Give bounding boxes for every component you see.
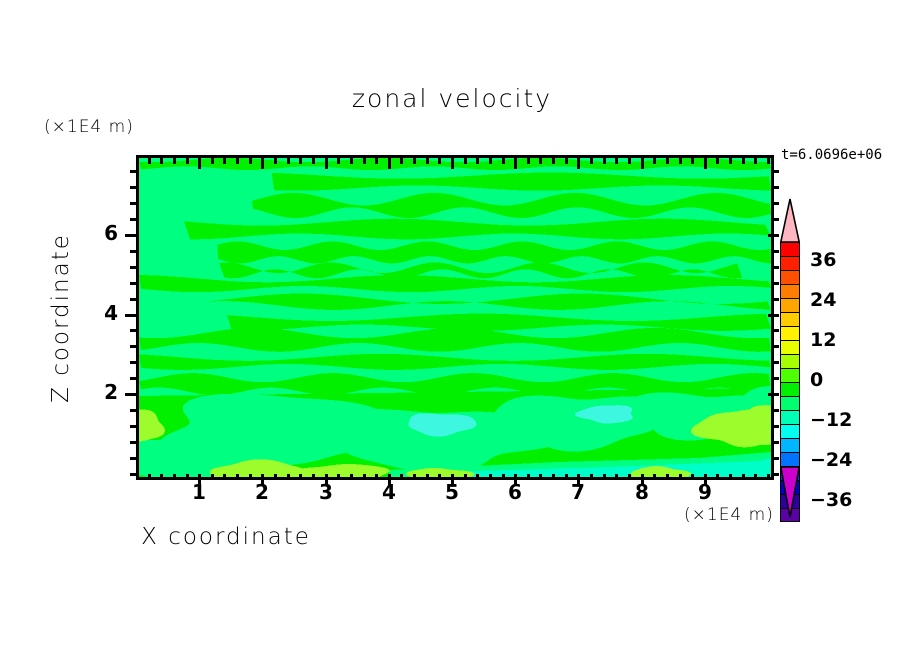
x-minor-tick (754, 474, 757, 480)
colorbar-band (780, 382, 800, 396)
y-major-tick-right (768, 234, 779, 237)
x-minor-tick-top (464, 158, 467, 164)
x-major-tick-top (388, 158, 391, 169)
x-minor-tick-top (539, 158, 542, 164)
x-minor-tick-top (716, 158, 719, 164)
colorbar-band (780, 368, 800, 382)
x-minor-tick-top (363, 158, 366, 164)
y-tick-label: 6 (92, 221, 118, 245)
x-minor-tick-top (527, 158, 530, 164)
x-minor-tick (160, 474, 163, 480)
x-major-tick-top (451, 158, 454, 169)
colorbar-band (780, 326, 800, 340)
y-axis-unit-label: (×1E4 m) (44, 117, 134, 137)
colorbar-under-arrow (780, 466, 800, 518)
colorbar-band (780, 298, 800, 312)
y-minor-tick-right (773, 473, 779, 476)
x-minor-tick-top (552, 158, 555, 164)
y-minor-tick-right (773, 457, 779, 460)
y-major-tick (125, 314, 136, 317)
y-minor-tick (130, 266, 136, 269)
y-minor-tick-right (773, 377, 779, 380)
x-minor-tick (742, 474, 745, 480)
x-major-tick-top (261, 158, 264, 169)
x-minor-tick (223, 474, 226, 480)
x-tick-label: 3 (311, 480, 341, 504)
x-minor-tick-top (729, 158, 732, 164)
x-minor-tick-top (173, 158, 176, 164)
y-minor-tick-right (773, 361, 779, 364)
y-tick-label: 4 (92, 301, 118, 325)
x-minor-tick-top (666, 158, 669, 164)
x-minor-tick-top (754, 158, 757, 164)
y-axis-title: Z coordinate (48, 228, 74, 408)
x-axis-title: X coordinate (0, 524, 904, 550)
colorbar-band (780, 340, 800, 354)
y-minor-tick (130, 425, 136, 428)
x-minor-tick-top (350, 158, 353, 164)
x-minor-tick (552, 474, 555, 480)
y-minor-tick-right (773, 170, 779, 173)
y-minor-tick-right (773, 409, 779, 412)
colorbar-band (780, 312, 800, 326)
x-minor-tick-top (400, 158, 403, 164)
x-minor-tick-top (679, 158, 682, 164)
x-minor-tick-top (489, 158, 492, 164)
y-major-tick-right (768, 393, 779, 396)
x-minor-tick (489, 474, 492, 480)
y-major-tick (125, 234, 136, 237)
y-major-tick-right (768, 314, 779, 317)
plot-area[interactable] (136, 155, 774, 480)
colorbar-tick-label: −36 (810, 489, 852, 511)
x-minor-tick (287, 474, 290, 480)
colorbar-over-arrow (780, 198, 800, 243)
colorbar-band (780, 452, 800, 466)
x-tick-label: 7 (563, 480, 593, 504)
colorbar-band (780, 410, 800, 424)
y-minor-tick-right (773, 298, 779, 301)
x-minor-tick (350, 474, 353, 480)
x-tick-label: 4 (374, 480, 404, 504)
y-minor-tick (130, 298, 136, 301)
x-minor-tick (615, 474, 618, 480)
x-minor-tick (148, 474, 151, 480)
y-tick-label: 2 (92, 380, 118, 404)
x-minor-tick-top (236, 158, 239, 164)
colorbar-band (780, 256, 800, 270)
x-minor-tick (413, 474, 416, 480)
y-minor-tick-right (773, 266, 779, 269)
x-major-tick-top (325, 158, 328, 169)
y-minor-tick (130, 329, 136, 332)
y-minor-tick-right (773, 425, 779, 428)
x-minor-tick-top (375, 158, 378, 164)
x-minor-tick-top (299, 158, 302, 164)
x-minor-tick-top (426, 158, 429, 164)
x-minor-tick (476, 474, 479, 480)
x-minor-tick (679, 474, 682, 480)
y-minor-tick (130, 441, 136, 444)
colorbar-band (780, 396, 800, 410)
x-minor-tick-top (287, 158, 290, 164)
x-minor-tick-top (438, 158, 441, 164)
x-minor-tick-top (502, 158, 505, 164)
colorbar-band (780, 424, 800, 438)
y-minor-tick (130, 457, 136, 460)
y-minor-tick (130, 409, 136, 412)
x-major-tick-top (641, 158, 644, 169)
x-minor-tick (173, 474, 176, 480)
x-minor-tick (363, 474, 366, 480)
colorbar-tick-label: −24 (810, 449, 852, 471)
x-major-tick-top (514, 158, 517, 169)
y-minor-tick-right (773, 282, 779, 285)
y-minor-tick (130, 377, 136, 380)
y-minor-tick (130, 361, 136, 364)
x-minor-tick-top (691, 158, 694, 164)
x-tick-label: 8 (627, 480, 657, 504)
x-minor-tick-top (274, 158, 277, 164)
x-minor-tick-top (615, 158, 618, 164)
y-minor-tick (130, 473, 136, 476)
colorbar-tick-label: −12 (810, 409, 852, 431)
x-minor-tick-top (590, 158, 593, 164)
x-major-tick-top (577, 158, 580, 169)
y-minor-tick (130, 170, 136, 173)
x-tick-label: 6 (500, 480, 530, 504)
colorbar-band (780, 284, 800, 298)
x-minor-tick-top (653, 158, 656, 164)
x-minor-tick-top (249, 158, 252, 164)
x-minor-tick-top (565, 158, 568, 164)
x-minor-tick-top (476, 158, 479, 164)
x-minor-tick (729, 474, 732, 480)
colorbar-band (780, 354, 800, 368)
x-minor-tick (767, 474, 770, 480)
x-major-tick-top (198, 158, 201, 169)
x-minor-tick-top (413, 158, 416, 164)
x-minor-tick-top (223, 158, 226, 164)
x-major-tick-top (704, 158, 707, 169)
colorbar-tick-label: 24 (810, 289, 836, 311)
colorbar-band (780, 270, 800, 284)
y-minor-tick-right (773, 218, 779, 221)
x-minor-tick-top (312, 158, 315, 164)
x-minor-tick (603, 474, 606, 480)
x-minor-tick (426, 474, 429, 480)
x-minor-tick (236, 474, 239, 480)
y-minor-tick (130, 282, 136, 285)
x-minor-tick-top (160, 158, 163, 164)
x-tick-label: 2 (247, 480, 277, 504)
x-minor-tick-top (186, 158, 189, 164)
x-minor-tick-top (148, 158, 151, 164)
x-tick-label: 1 (184, 480, 214, 504)
y-minor-tick (130, 186, 136, 189)
colorbar-tick-label: 36 (810, 249, 836, 271)
y-minor-tick (130, 218, 136, 221)
timestamp-annotation: t=6.0696e+06 (781, 147, 882, 163)
x-tick-label: 9 (690, 480, 720, 504)
y-minor-tick-right (773, 345, 779, 348)
y-minor-tick-right (773, 202, 779, 205)
y-minor-tick-right (773, 441, 779, 444)
x-tick-label: 5 (437, 480, 467, 504)
x-minor-tick-top (628, 158, 631, 164)
x-minor-tick (666, 474, 669, 480)
x-minor-tick (299, 474, 302, 480)
y-minor-tick-right (773, 250, 779, 253)
x-axis-unit-label: (×1E4 m) (684, 505, 774, 525)
x-minor-tick-top (603, 158, 606, 164)
y-minor-tick (130, 202, 136, 205)
page-title: zonal velocity (0, 84, 904, 113)
x-minor-tick-top (337, 158, 340, 164)
colorbar-band (780, 438, 800, 452)
colorbar-tick-label: 0 (810, 369, 823, 391)
y-minor-tick-right (773, 329, 779, 332)
x-minor-tick-top (742, 158, 745, 164)
colorbar-band (780, 242, 800, 256)
y-minor-tick (130, 250, 136, 253)
y-minor-tick (130, 345, 136, 348)
x-minor-tick-top (767, 158, 770, 164)
y-minor-tick-right (773, 186, 779, 189)
x-minor-tick-top (211, 158, 214, 164)
x-minor-tick (539, 474, 542, 480)
y-major-tick (125, 393, 136, 396)
contour-field (139, 158, 771, 477)
colorbar-tick-label: 12 (810, 329, 836, 351)
